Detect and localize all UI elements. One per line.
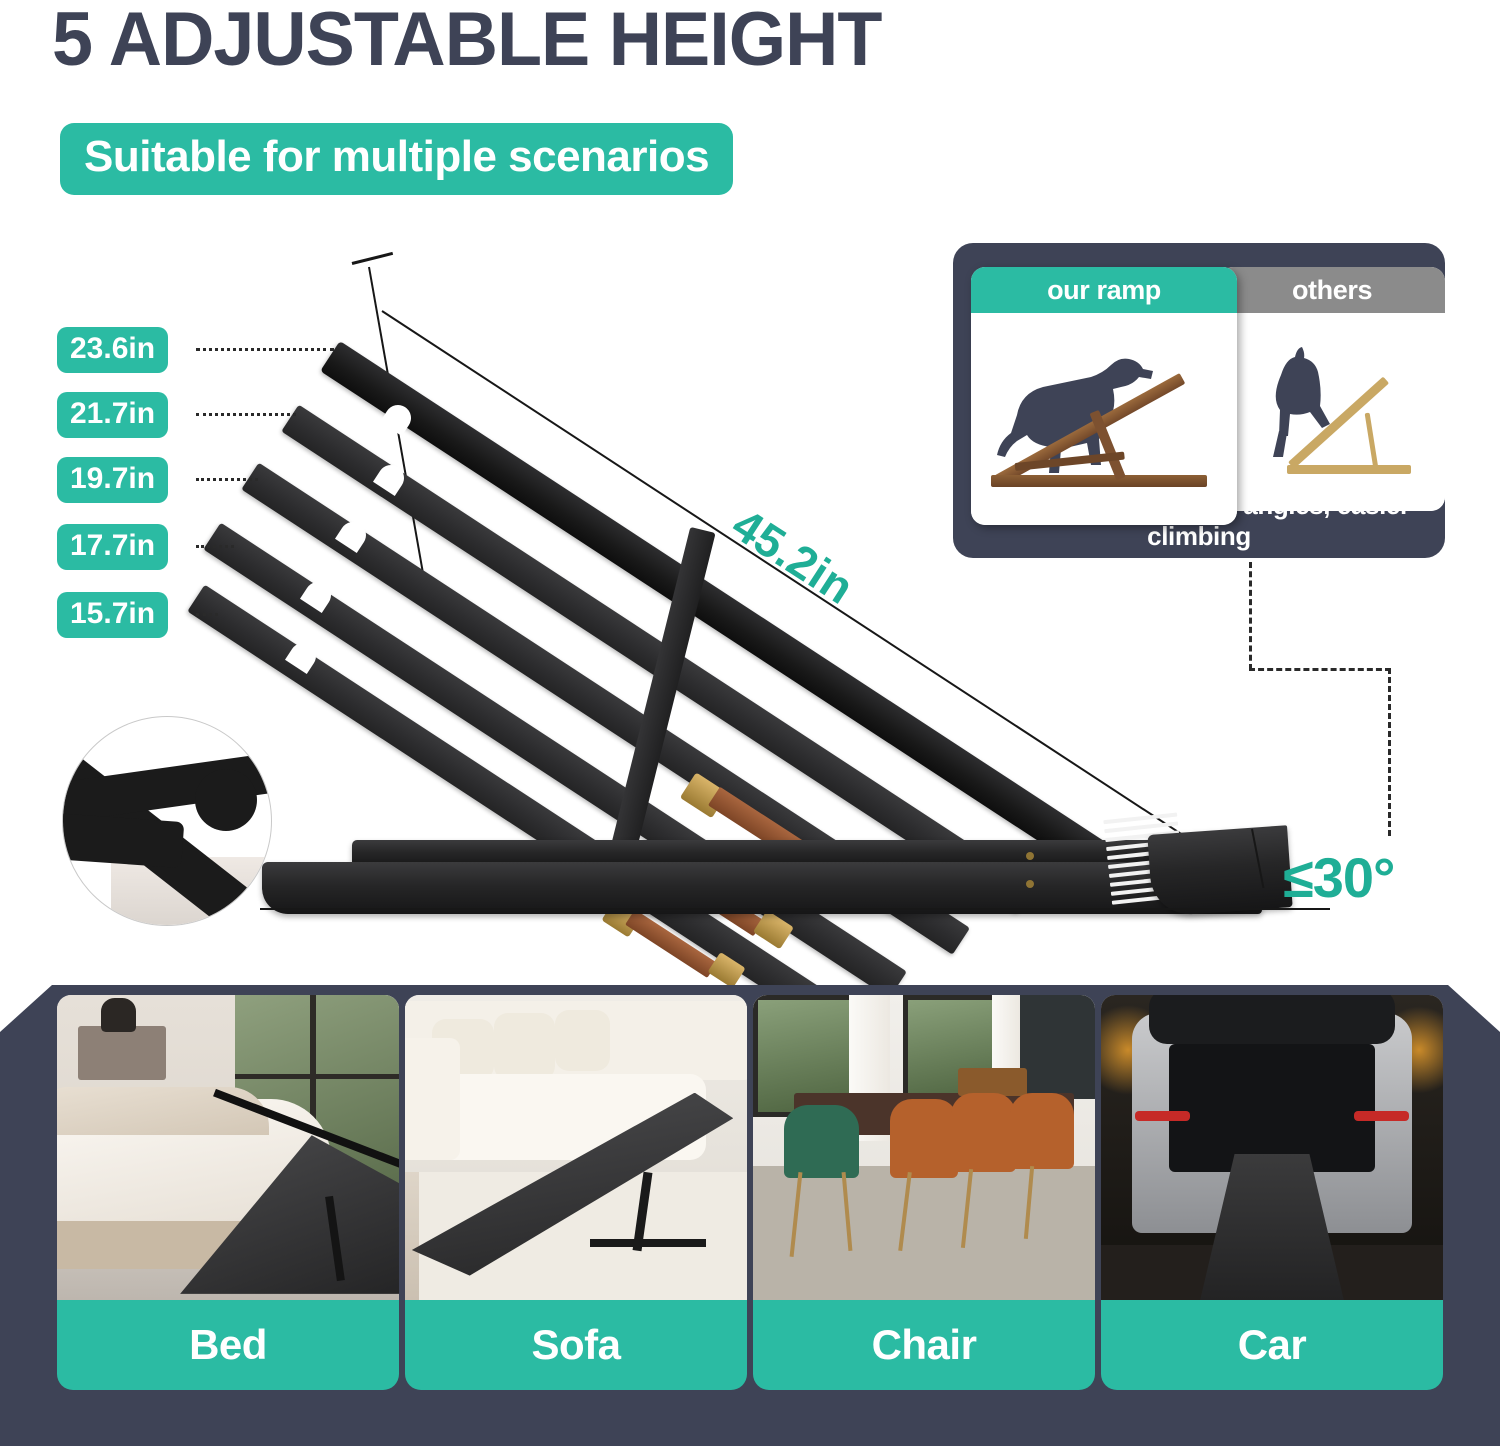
bed-throw-blanket [57, 1087, 269, 1136]
bed-lamp [101, 998, 135, 1032]
car-open-hatch [1149, 995, 1395, 1044]
car-taillight-left [1135, 1111, 1190, 1121]
scenario-photo-sofa [405, 995, 747, 1300]
chair-tan-seat-2 [951, 1093, 1016, 1172]
chair-centerpiece [958, 1068, 1026, 1095]
bed-window-mullion-h [235, 1074, 399, 1079]
scenario-label-bed: Bed [57, 1300, 399, 1390]
ours-ramp-base [991, 475, 1207, 487]
car-scene [1101, 995, 1443, 1300]
scenario-card-sofa[interactable]: Sofa [405, 995, 747, 1390]
bed-scene [57, 995, 399, 1300]
scenario-label-sofa: Sofa [405, 1300, 747, 1390]
sofa-ramp-foot [590, 1239, 706, 1247]
scenario-photo-bed [57, 995, 399, 1300]
sofa-pillow-3 [555, 1010, 610, 1071]
chair-scene [753, 995, 1095, 1300]
scenario-card-bed[interactable]: Bed [57, 995, 399, 1390]
scenario-card-chair[interactable]: Chair [753, 995, 1095, 1390]
chair-green-seat [784, 1105, 859, 1178]
comparison-ours-image [971, 313, 1237, 525]
car-cargo-area [1169, 1044, 1374, 1172]
comparison-ours-title: our ramp [971, 267, 1237, 313]
scenario-card-car[interactable]: Car [1101, 995, 1443, 1390]
chair-tan-seat-1 [890, 1099, 958, 1178]
car-taillight-right [1354, 1111, 1409, 1121]
scenario-label-car: Car [1101, 1300, 1443, 1390]
scenario-photo-car [1101, 995, 1443, 1300]
scenario-cards: Bed Sofa [0, 0, 1500, 1446]
chair-tan-seat-3 [1010, 1093, 1075, 1169]
comparison-ours-panel: our ramp [971, 267, 1237, 525]
sofa-scene [405, 995, 747, 1300]
chair-cabinet [1020, 995, 1095, 1099]
bed-nightstand [78, 1026, 167, 1081]
scenario-photo-chair [753, 995, 1095, 1300]
chair-rug [753, 1166, 1095, 1300]
sofa-pillow-2 [494, 1013, 556, 1080]
sofa-arm [405, 1038, 460, 1160]
infographic-root: 5 ADJUSTABLE HEIGHT Suitable for multipl… [0, 0, 1500, 1446]
scenario-label-chair: Chair [753, 1300, 1095, 1390]
